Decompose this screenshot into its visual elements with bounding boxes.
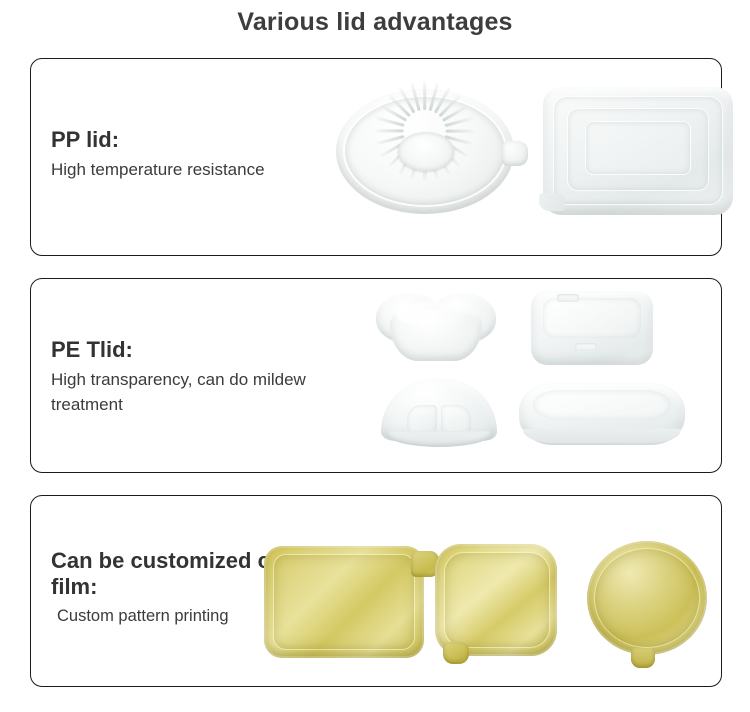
oval-pe-lid-image bbox=[519, 383, 685, 445]
square-lid-notch-top bbox=[557, 294, 579, 302]
pp-lid-text-block: PP lid: High temperature resistance bbox=[51, 127, 321, 183]
gold-rect-inner-edge bbox=[273, 554, 415, 650]
pe-lid-subtext: High transparency, can do mildew treatme… bbox=[51, 368, 321, 417]
rectangular-gold-film-image bbox=[264, 546, 424, 658]
square-gold-film-image bbox=[435, 544, 557, 660]
square-pe-lid-image bbox=[531, 291, 653, 365]
gold-square-inner-edge bbox=[444, 552, 550, 648]
heart-lid-highlight bbox=[396, 301, 468, 327]
oval-lid-inner-panel bbox=[533, 390, 671, 420]
round-gold-film-image bbox=[587, 541, 707, 663]
pp-lid-heading: PP lid: bbox=[51, 127, 321, 153]
oval-lid-lip bbox=[523, 429, 681, 443]
dome-lid-foot-ring bbox=[387, 431, 491, 447]
round-pp-lid-image bbox=[336, 89, 514, 214]
rect-lid-ring-inner bbox=[585, 121, 691, 175]
gold-round-tab bbox=[631, 648, 655, 668]
heart-pe-lid-image bbox=[376, 291, 496, 365]
dome-pe-lid-image bbox=[381, 379, 497, 451]
pe-lid-heading: PE Tlid: bbox=[51, 337, 321, 363]
square-lid-notch-bottom bbox=[575, 343, 597, 351]
gold-square-tab bbox=[443, 642, 469, 664]
gold-round-inner-edge bbox=[594, 548, 700, 648]
square-lid-top-panel bbox=[543, 298, 641, 338]
rectangular-pp-lid-image bbox=[543, 87, 733, 215]
pe-lid-text-block: PE Tlid: High transparency, can do milde… bbox=[51, 337, 321, 417]
rect-lid-corner-fold bbox=[539, 193, 565, 211]
card-pp-lid: PP lid: High temperature resistance bbox=[30, 58, 722, 256]
pp-lid-subtext: High temperature resistance bbox=[51, 158, 321, 183]
card-cover-film: Can be customized cover film: Custom pat… bbox=[30, 495, 722, 687]
round-lid-center-hub bbox=[398, 132, 454, 171]
page-title: Various lid advantages bbox=[0, 8, 750, 37]
round-lid-tab bbox=[502, 141, 528, 166]
card-pe-lid: PE Tlid: High transparency, can do milde… bbox=[30, 278, 722, 473]
